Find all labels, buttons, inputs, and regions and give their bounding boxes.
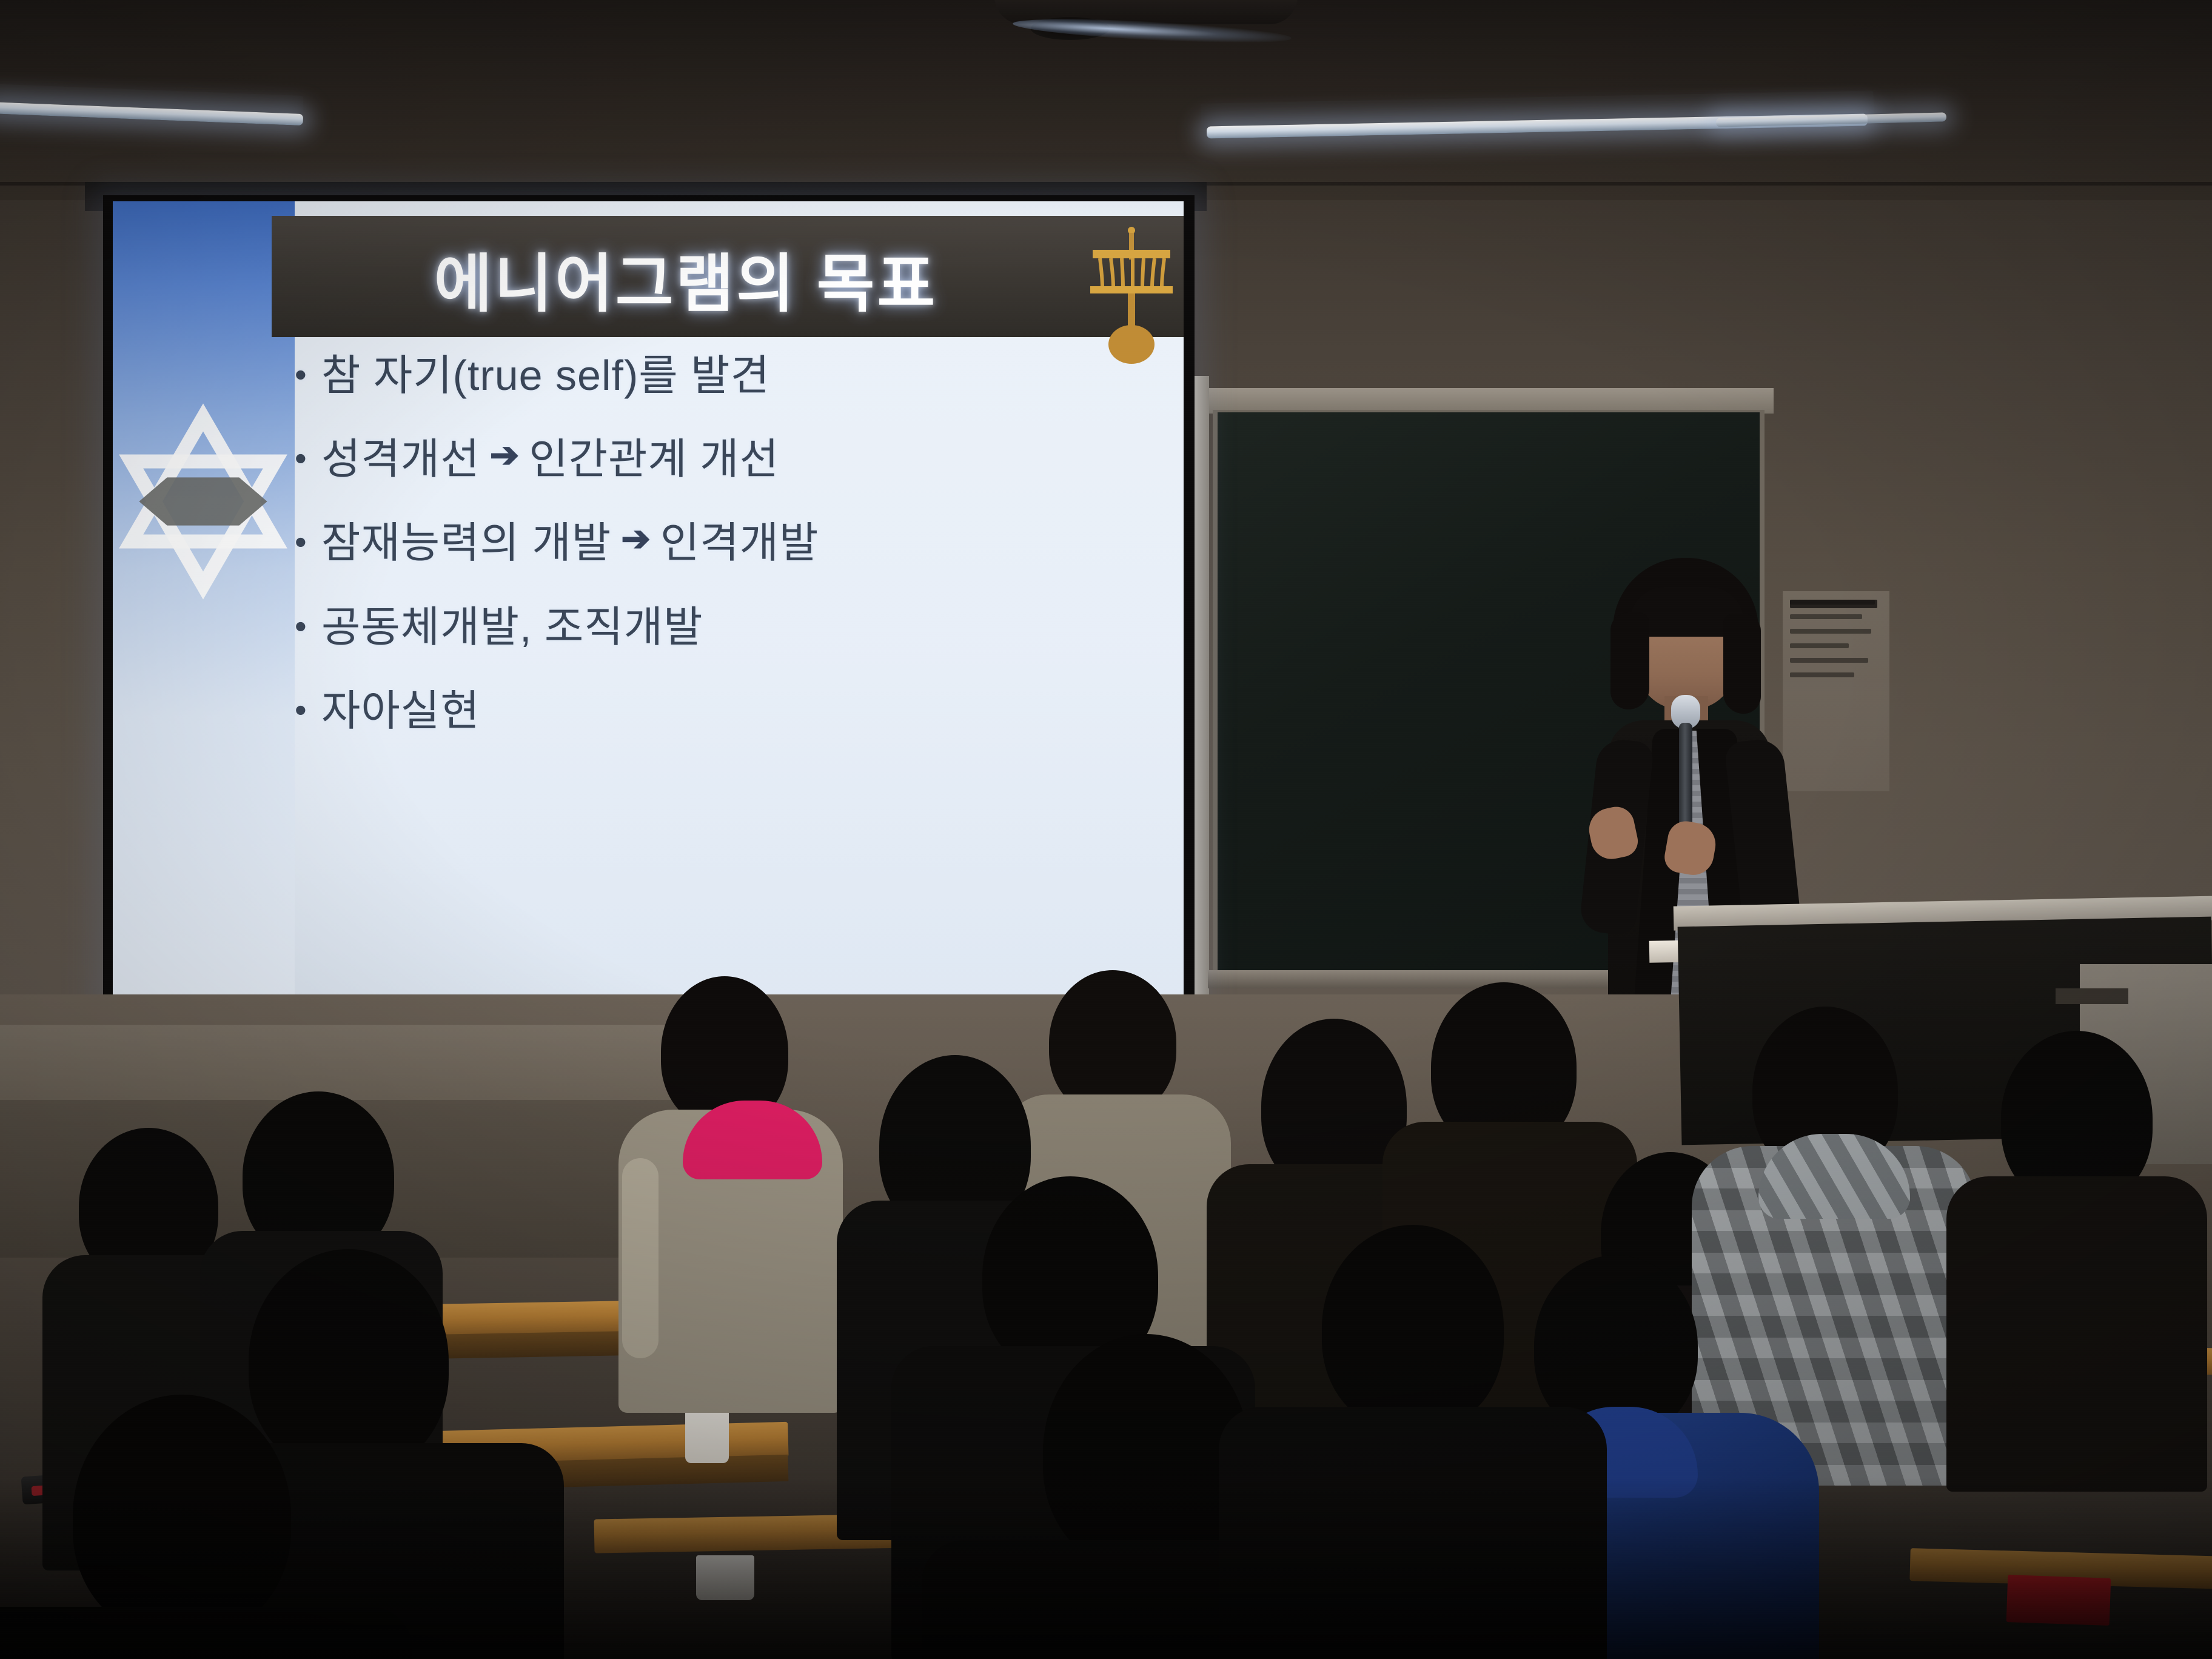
attendee-body bbox=[1219, 1407, 1607, 1659]
bullet-marker: • bbox=[295, 520, 321, 564]
attendee-head bbox=[1043, 1334, 1249, 1570]
presenter-hair-left bbox=[1610, 612, 1649, 709]
bullet-text: 자아실현 bbox=[321, 688, 480, 733]
list-item: • 잠재능력의 개발 ➔ 인격개발 bbox=[295, 520, 1159, 565]
wall-band-upper bbox=[0, 1025, 764, 1104]
bullet-marker: • bbox=[295, 353, 321, 397]
list-item: • 참 자기(true self)를 발견 bbox=[295, 353, 1159, 398]
bullet-text-after: 인격개발 bbox=[660, 520, 819, 565]
bullet-text-after: 인간관계 개선 bbox=[529, 437, 779, 481]
attendee-head bbox=[249, 1249, 449, 1473]
attendee-body bbox=[0, 1607, 412, 1659]
bullet-marker: • bbox=[295, 437, 321, 480]
attendee-sleeve bbox=[622, 1158, 659, 1358]
list-item: • 성격개선 ➔ 인간관계 개선 bbox=[295, 437, 1159, 481]
hexagram-star-icon bbox=[113, 401, 303, 602]
attendee-head bbox=[1322, 1225, 1504, 1431]
lecture-hall-photo: 에니어그램의 목표 bbox=[0, 0, 2212, 1659]
presenter-hair-right bbox=[1723, 614, 1761, 714]
slide-title: 에니어그램의 목표 bbox=[295, 224, 1077, 331]
slide-left-accent-band bbox=[113, 201, 295, 1032]
bullet-marker: • bbox=[295, 688, 321, 732]
bullet-text: 성격개선 bbox=[321, 437, 480, 481]
presentation-slide: 에니어그램의 목표 bbox=[113, 201, 1184, 1032]
bullet-text: 잠재능력의 개발 bbox=[321, 520, 611, 565]
podium-shelf bbox=[2056, 988, 2128, 1004]
slide-bullet-list: • 참 자기(true self)를 발견 • 성격개선 ➔ 인간관계 개선 •… bbox=[295, 353, 1159, 990]
arrow-right-icon: ➔ bbox=[611, 520, 660, 557]
list-item: • 공동체개발, 조직개발 bbox=[295, 605, 1159, 649]
bullet-text: 참 자기(true self)를 발견 bbox=[321, 353, 770, 398]
chalkboard-left-edge bbox=[1193, 376, 1209, 994]
attendee-body bbox=[1946, 1176, 2207, 1492]
attendee-head bbox=[73, 1395, 291, 1637]
red-booklet bbox=[2006, 1575, 2111, 1626]
attendee-head bbox=[1049, 970, 1176, 1116]
arrow-right-icon: ➔ bbox=[480, 437, 529, 474]
paper-cup bbox=[696, 1555, 754, 1600]
bullet-marker: • bbox=[295, 605, 321, 648]
projection-screen: 에니어그램의 목표 bbox=[113, 201, 1184, 1032]
list-item: • 자아실현 bbox=[295, 688, 1159, 733]
bullet-text: 공동체개발, 조직개발 bbox=[321, 605, 703, 649]
